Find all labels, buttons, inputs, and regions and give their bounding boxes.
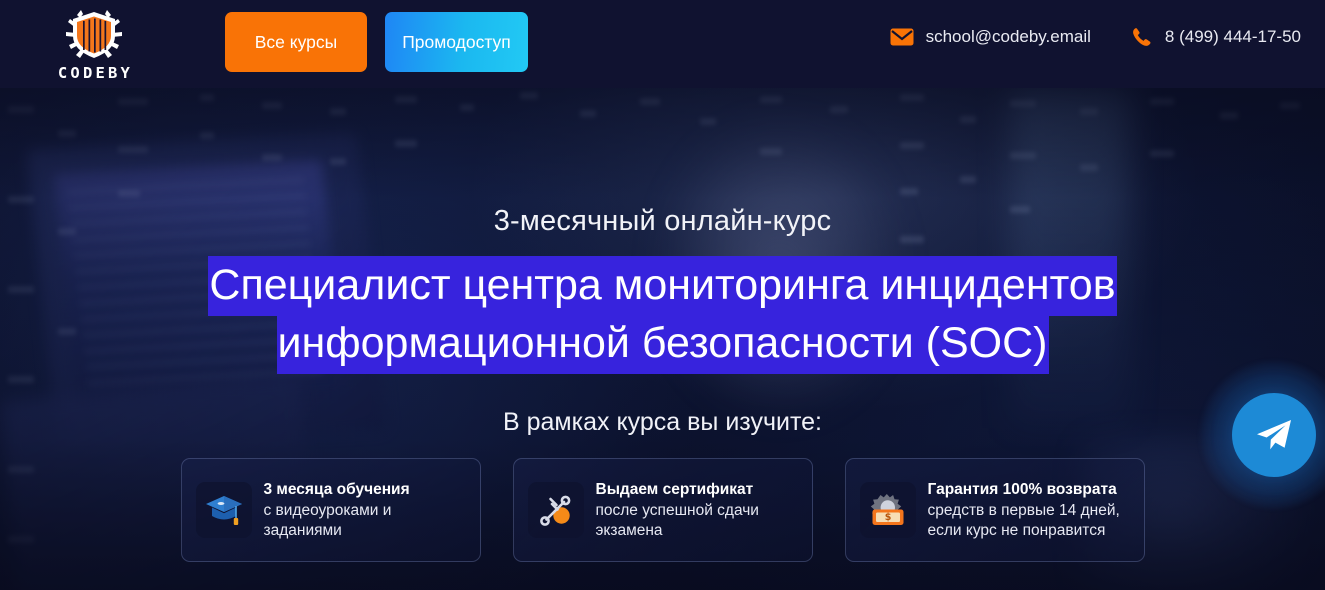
hero-subheading: В рамках курса вы изучите: xyxy=(0,408,1325,437)
hero-eyebrow: 3-месячный онлайн-курс xyxy=(0,205,1325,238)
telegram-paper-plane-icon xyxy=(1254,417,1294,453)
feature-card-text: Выдаем сертификат после успешной сдачи э… xyxy=(596,480,800,540)
feature-card-text: 3 месяца обучения с видеоуроками и задан… xyxy=(264,480,468,540)
headline-line-2: информационной безопасности (SOC) xyxy=(0,314,1325,372)
logo-wordmark: CODEBY xyxy=(55,64,133,82)
feature-card-desc: после успешной сдачи экзамена xyxy=(596,501,800,540)
site-header: CODEBY Все курсы Промодоступ school@code… xyxy=(0,0,1325,88)
all-courses-button[interactable]: Все курсы xyxy=(225,12,367,72)
graduation-cap-icon xyxy=(196,482,252,538)
feature-card-guarantee[interactable]: $ Гарантия 100% возврата средств в первы… xyxy=(845,458,1145,562)
telegram-button[interactable] xyxy=(1232,393,1316,477)
feature-card-title: 3 месяца обучения xyxy=(264,480,468,500)
headline-line-1: Специалист центра мониторинга инцидентов xyxy=(0,256,1325,314)
money-back-icon: $ xyxy=(860,482,916,538)
feature-card-duration[interactable]: 3 месяца обучения с видеоуроками и задан… xyxy=(181,458,481,562)
feature-card-title: Выдаем сертификат xyxy=(596,480,800,500)
email-contact[interactable]: school@codeby.email xyxy=(890,27,1091,47)
feature-card-text: Гарантия 100% возврата средств в первые … xyxy=(928,480,1132,540)
spider-shield-icon xyxy=(58,7,130,61)
promo-access-button[interactable]: Промодоступ xyxy=(385,12,528,72)
feature-card-title: Гарантия 100% возврата xyxy=(928,480,1132,500)
certificate-scroll-icon xyxy=(528,482,584,538)
phone-contact[interactable]: 8 (499) 444-17-50 xyxy=(1131,26,1301,48)
header-contacts: school@codeby.email 8 (499) 444-17-50 xyxy=(890,26,1301,48)
feature-card-certificate[interactable]: Выдаем сертификат после успешной сдачи э… xyxy=(513,458,813,562)
phone-icon xyxy=(1131,26,1153,48)
telegram-float-wrapper xyxy=(1185,348,1325,524)
headline-line-2-text: информационной безопасности (SOC) xyxy=(277,314,1049,374)
hero-content: 3-месячный онлайн-курс Специалист центра… xyxy=(0,88,1325,590)
svg-text:$: $ xyxy=(884,512,891,523)
email-text: school@codeby.email xyxy=(926,27,1091,47)
feature-card-desc: с видеоуроками и заданиями xyxy=(264,501,468,540)
phone-text: 8 (499) 444-17-50 xyxy=(1165,27,1301,47)
feature-card-desc: средств в первые 14 дней, если курс не п… xyxy=(928,501,1132,540)
feature-cards: 3 месяца обучения с видеоуроками и задан… xyxy=(0,458,1325,562)
envelope-icon xyxy=(890,28,914,46)
hero-section: 3-месячный онлайн-курс Специалист центра… xyxy=(0,88,1325,590)
page-root: CODEBY Все курсы Промодоступ school@code… xyxy=(0,0,1325,590)
page-title: Специалист центра мониторинга инцидентов… xyxy=(0,256,1325,372)
headline-line-1-text: Специалист центра мониторинга инцидентов xyxy=(208,256,1116,316)
site-logo[interactable]: CODEBY xyxy=(38,4,150,84)
header-nav-buttons: Все курсы Промодоступ xyxy=(225,12,528,72)
